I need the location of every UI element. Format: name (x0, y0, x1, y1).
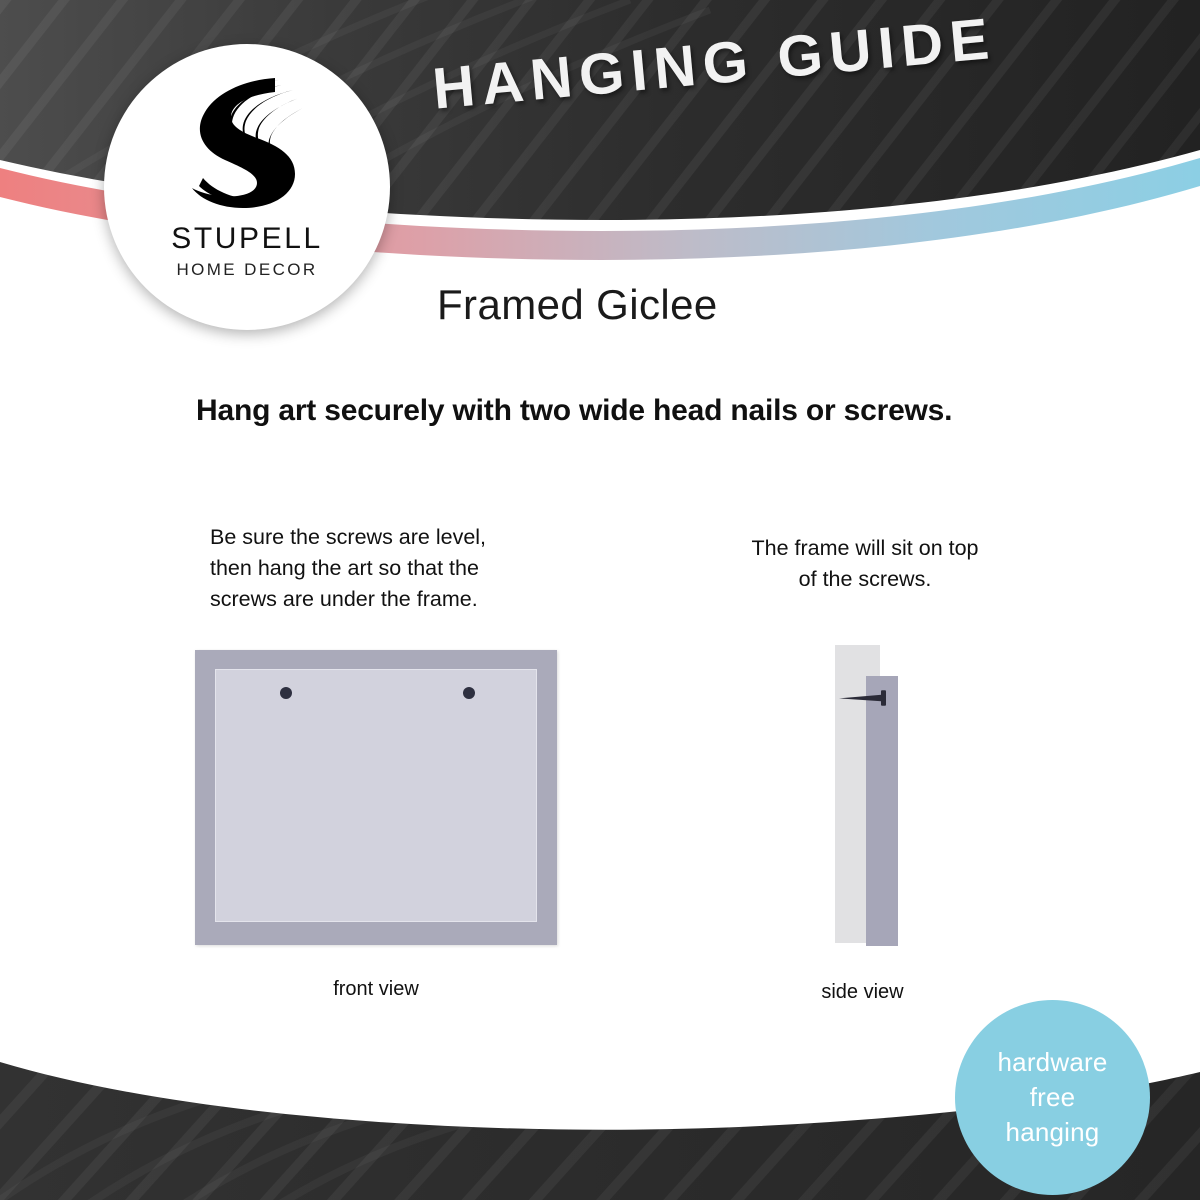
page-title: HANGING GUIDE (430, 0, 1054, 123)
brand-logo-badge: STUPELL HOME DECOR (104, 44, 390, 330)
frame-cross-section (866, 676, 898, 946)
main-instruction: Hang art securely with two wide head nai… (196, 394, 1026, 428)
screw-dot-left (280, 687, 292, 699)
stupell-swoosh-icon (183, 70, 311, 210)
side-view-caption: The frame will sit on top of the screws. (700, 533, 1030, 595)
logo-subwordmark: HOME DECOR (104, 260, 390, 280)
nail-icon (837, 689, 893, 707)
badge-line-3: hanging (1006, 1115, 1100, 1150)
picture-frame-artwork (215, 669, 537, 922)
side-view-caption-line-1: The frame will sit on top (700, 533, 1030, 564)
screw-dot-right (463, 687, 475, 699)
badge-line-2: free (1030, 1080, 1076, 1115)
badge-line-1: hardware (998, 1045, 1108, 1080)
front-view-diagram (195, 650, 557, 945)
front-view-caption: Be sure the screws are level, then hang … (210, 522, 570, 615)
side-view-label: side view (790, 981, 935, 1004)
logo-wordmark: STUPELL (104, 222, 390, 256)
front-view-label: front view (195, 978, 557, 1001)
front-view-caption-line-1: Be sure the screws are level, (210, 522, 570, 553)
side-view-caption-line-2: of the screws. (700, 564, 1030, 595)
front-view-caption-line-2: then hang the art so that the (210, 553, 570, 584)
front-view-caption-line-3: screws are under the frame. (210, 584, 570, 615)
side-view-diagram (820, 640, 930, 950)
product-title: Framed Giclee (437, 281, 718, 329)
hanging-guide-page: HANGING GUIDE STUPELL HOME DECOR Framed … (0, 0, 1200, 1200)
hardware-free-hanging-badge: hardware free hanging (955, 1000, 1150, 1195)
